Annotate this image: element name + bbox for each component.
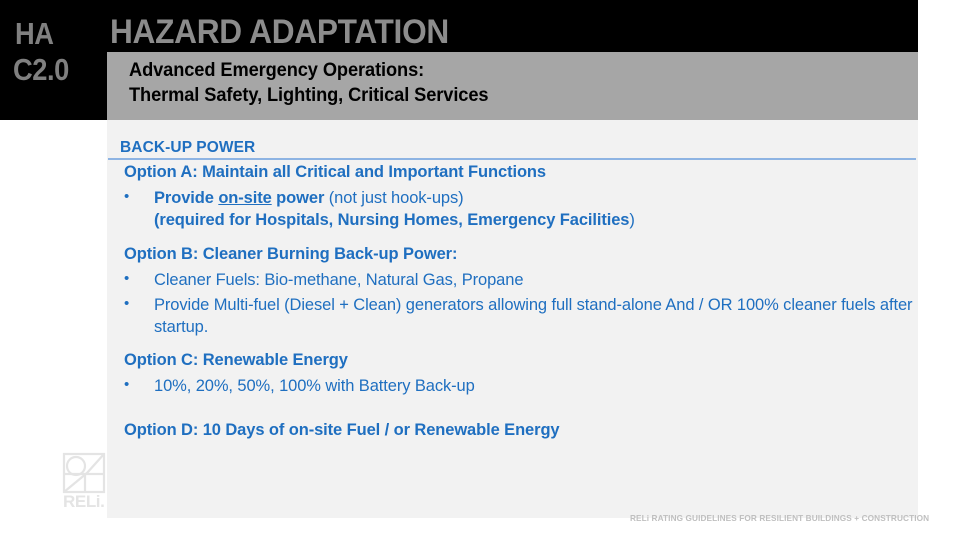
- reli-mark-icon: RELi.: [61, 452, 115, 510]
- bullet-a-required-for: (required for Hospitals, Nursing Homes, …: [154, 211, 629, 229]
- bullet-a-provide: Provide: [154, 189, 218, 207]
- option-c-title: Option C: Renewable Energy: [124, 351, 348, 370]
- svg-text:RELi.: RELi.: [63, 492, 104, 510]
- page-subtitle: Advanced Emergency Operations: Thermal S…: [129, 58, 488, 109]
- bullet-icon: •: [124, 269, 129, 289]
- option-a-bullet-1: • Provide on-site power (not just hook-u…: [124, 187, 904, 232]
- page-subtitle-line-1: Advanced Emergency Operations:: [129, 58, 488, 83]
- option-d-title: Option D: 10 Days of on-site Fuel / or R…: [124, 421, 560, 440]
- bullet-icon: •: [124, 375, 129, 395]
- section-divider: [108, 158, 916, 160]
- hazard-code-prefix: HA: [15, 18, 96, 49]
- option-b-bullet-1-text: Cleaner Fuels: Bio-methane, Natural Gas,…: [154, 269, 904, 291]
- option-a-title: Option A: Maintain all Critical and Impo…: [124, 163, 546, 182]
- option-b-bullet-2: • Provide Multi-fuel (Diesel + Clean) ge…: [124, 294, 919, 339]
- slide-canvas: HA C2.0 HAZARD ADAPTATION Advanced Emerg…: [0, 0, 960, 540]
- bullet-a-onsite: on-site: [218, 189, 271, 207]
- bullet-icon: •: [124, 187, 129, 207]
- bullet-a-parenthetical: (not just hook-ups): [324, 189, 463, 207]
- bullet-icon: •: [124, 294, 129, 314]
- page-subtitle-line-2: Thermal Safety, Lighting, Critical Servi…: [129, 83, 488, 108]
- option-c-bullet-1: • 10%, 20%, 50%, 100% with Battery Back-…: [124, 375, 904, 397]
- bullet-a-close-paren: ): [629, 211, 634, 229]
- hazard-code-number: C2.0: [13, 54, 96, 85]
- page-title: HAZARD ADAPTATION: [110, 15, 449, 49]
- option-a-bullet-1-text: Provide on-site power (not just hook-ups…: [154, 187, 904, 232]
- footer-note: RELi RATING GUIDELINES FOR RESILIENT BUI…: [630, 513, 929, 523]
- option-b-bullet-2-text: Provide Multi-fuel (Diesel + Clean) gene…: [154, 294, 919, 339]
- option-b-bullet-1: • Cleaner Fuels: Bio-methane, Natural Ga…: [124, 269, 904, 291]
- option-c-bullet-1-text: 10%, 20%, 50%, 100% with Battery Back-up: [154, 375, 904, 397]
- option-b-title: Option B: Cleaner Burning Back-up Power:: [124, 245, 457, 264]
- section-heading-backup-power: BACK-UP POWER: [120, 139, 255, 157]
- reli-logo-watermark: RELi.: [61, 452, 115, 510]
- bullet-a-power: power: [272, 189, 325, 207]
